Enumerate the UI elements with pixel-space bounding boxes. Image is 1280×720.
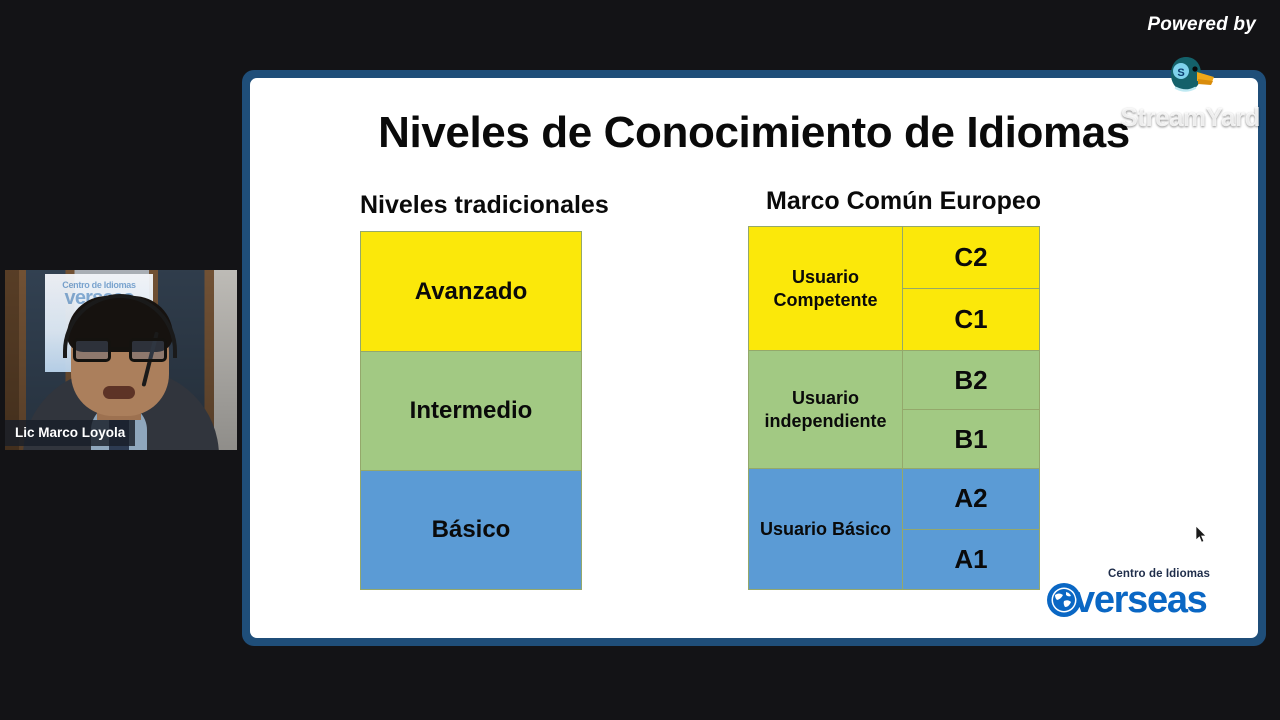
table-row-avanzado: Avanzado [361, 232, 581, 352]
cefr-level-b1: B1 [903, 410, 1039, 468]
table-row-usuario-independiente: Usuario independiente B2 B1 [749, 351, 1039, 469]
overseas-logo: Centro de Idiomas verseas [1046, 568, 1242, 618]
overseas-wordmark: verseas [1074, 579, 1207, 622]
glasses-icon [73, 338, 167, 362]
heading-traditional-levels: Niveles tradicionales [360, 191, 609, 220]
cell-label-usuario-independiente: Usuario independiente [749, 351, 903, 468]
table-row-intermedio: Intermedio [361, 352, 581, 471]
cell-label-intermedio: Intermedio [410, 397, 533, 425]
table-row-basico: Básico [361, 471, 581, 589]
cell-label-basico: Básico [432, 516, 511, 544]
cell-label-avanzado: Avanzado [415, 278, 527, 306]
table-traditional-levels: Avanzado Intermedio Básico [360, 231, 582, 590]
cefr-level-a2: A2 [903, 469, 1039, 530]
glasses-right-lens [129, 338, 167, 362]
cell-label-usuario-basico: Usuario Básico [749, 469, 903, 589]
powered-by-label: Powered by [1147, 14, 1256, 36]
glasses-left-lens [73, 338, 111, 362]
cefr-level-c2: C2 [903, 227, 1039, 289]
cefr-levels-independiente: B2 B1 [903, 351, 1039, 468]
cefr-levels-competente: C2 C1 [903, 227, 1039, 350]
glasses-bridge [111, 347, 129, 350]
slide-canvas: Niveles de Conocimiento de Idiomas Nivel… [250, 78, 1258, 638]
table-row-usuario-basico: Usuario Básico A2 A1 [749, 469, 1039, 589]
table-row-usuario-competente: Usuario Competente C2 C1 [749, 227, 1039, 351]
cefr-level-a1: A1 [903, 530, 1039, 590]
cefr-level-b2: B2 [903, 351, 1039, 410]
heading-cefr: Marco Común Europeo [766, 187, 1041, 216]
cefr-levels-basico: A2 A1 [903, 469, 1039, 589]
cefr-level-c1: C1 [903, 289, 1039, 350]
participant-name-label: Lic Marco Loyola [5, 420, 135, 446]
slide-title: Niveles de Conocimiento de Idiomas [250, 108, 1258, 158]
person-mouth [103, 386, 135, 399]
presentation-slide-frame: Niveles de Conocimiento de Idiomas Nivel… [242, 70, 1266, 646]
cell-label-usuario-competente: Usuario Competente [749, 227, 903, 350]
table-cefr-levels: Usuario Competente C2 C1 Usuario indepen… [748, 226, 1040, 590]
webcam-video-tile[interactable]: Centro de Idiomas verseas Lic Marco Loyo… [5, 270, 237, 450]
